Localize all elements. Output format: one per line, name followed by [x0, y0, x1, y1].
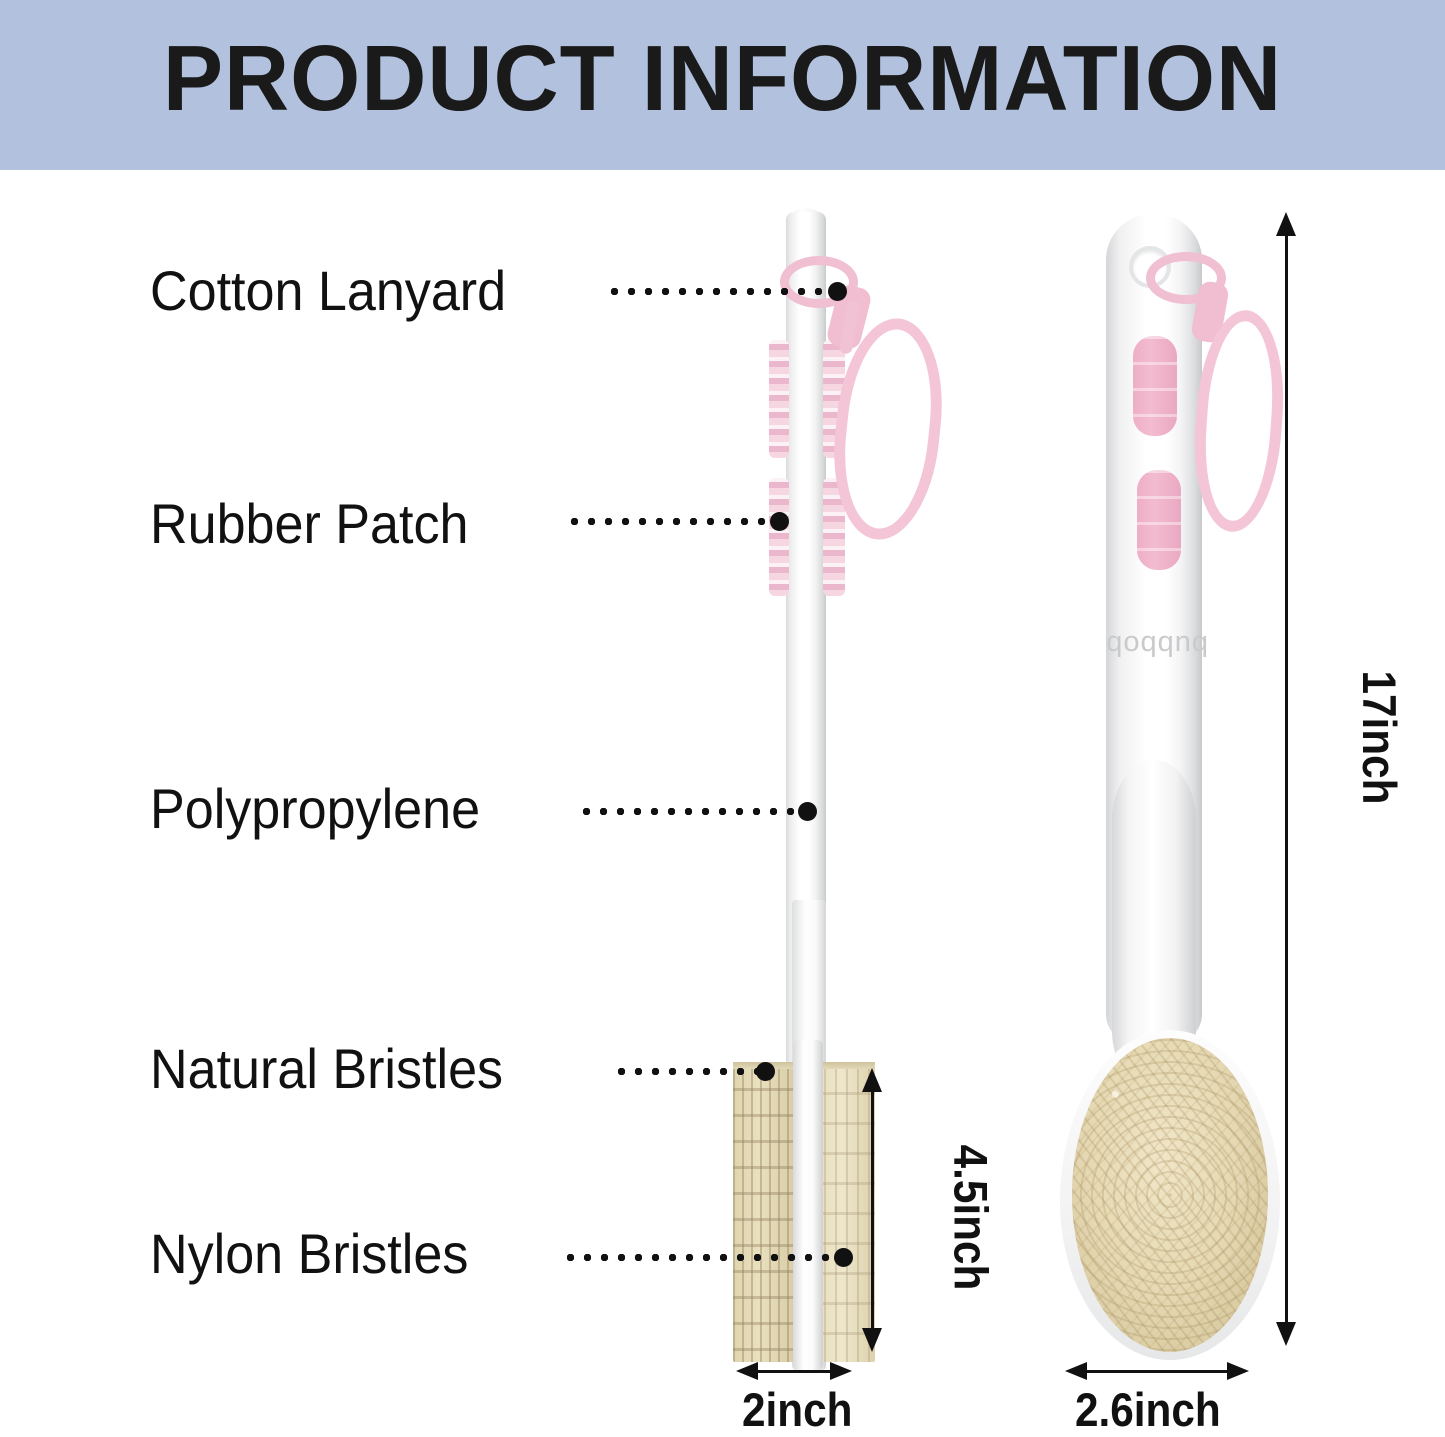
right-rubber-patch-lower	[1137, 470, 1181, 570]
callout-label-polypropylene: Polypropylene	[150, 780, 480, 838]
callout-label-nylon-bristles: Nylon Bristles	[150, 1225, 468, 1283]
brand-logo: bubbob	[1118, 628, 1208, 661]
leader-dot-rubber-patch	[770, 512, 789, 531]
dim-label-45inch: 4.5inch	[943, 1145, 998, 1291]
leader-line-polypropylene	[578, 808, 806, 815]
callout-label-cotton-lanyard: Cotton Lanyard	[150, 262, 506, 320]
dim-26inch-line	[1081, 1370, 1233, 1373]
leader-dot-polypropylene	[798, 802, 817, 821]
right-brush-illustration: bubbob	[0, 0, 1445, 1426]
dim-label-2inch: 2inch	[742, 1382, 852, 1437]
dim-label-26inch: 2.6inch	[1075, 1382, 1221, 1437]
leader-line-natural-bristles	[613, 1068, 763, 1075]
leader-dot-nylon-bristles	[834, 1248, 853, 1267]
leader-dot-natural-bristles	[756, 1062, 775, 1081]
dim-2inch-line	[752, 1370, 836, 1373]
dim-26inch-arrow-right	[1227, 1362, 1249, 1380]
infographic-canvas: PRODUCT INFORMATION bubbob	[0, 0, 1445, 1426]
leader-dot-cotton-lanyard	[828, 282, 847, 301]
leader-line-rubber-patch	[566, 518, 778, 525]
leader-line-cotton-lanyard	[606, 288, 836, 295]
dim-45inch-line	[871, 1084, 874, 1332]
dim-45inch-arrow-bottom	[862, 1328, 882, 1352]
dim-17inch-arrow-bottom	[1276, 1322, 1296, 1346]
callout-label-rubber-patch: Rubber Patch	[150, 495, 468, 553]
right-brush-bristle-fuzz	[1064, 1032, 1276, 1358]
leader-line-nylon-bristles	[562, 1254, 840, 1261]
right-rubber-patch-upper	[1133, 336, 1177, 436]
dim-17inch-line	[1285, 228, 1288, 1326]
dim-label-17inch: 17inch	[1352, 670, 1407, 804]
callout-label-natural-bristles: Natural Bristles	[150, 1040, 503, 1098]
dim-2inch-arrow-right	[830, 1362, 852, 1380]
